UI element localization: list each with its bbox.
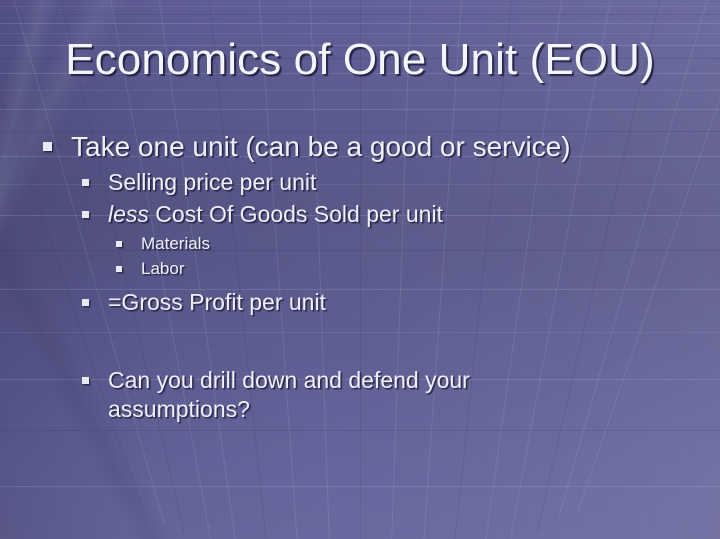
- bullet-text: Materials: [141, 232, 696, 256]
- slide-body-bullet-list: Take one unit (can be a good or service)…: [40, 130, 696, 427]
- square-bullet-icon: [116, 241, 122, 247]
- spacer: [40, 320, 696, 366]
- bullet-text: Take one unit (can be a good or service): [71, 130, 696, 164]
- square-bullet-icon: [82, 299, 89, 306]
- slide-title: Economics of One Unit (EOU): [0, 36, 720, 84]
- bullet-text-composite: less Cost Of Goods Sold per unit: [108, 200, 696, 229]
- presentation-slide: Economics of One Unit (EOU) Take one uni…: [0, 0, 720, 539]
- bullet-item-level1: Take one unit (can be a good or service): [40, 130, 696, 164]
- bullet-text: Selling price per unit: [108, 168, 696, 197]
- bullet-text: Can you drill down and defend your assum…: [108, 366, 578, 424]
- square-bullet-icon: [82, 211, 89, 218]
- bullet-text: =Gross Profit per unit: [108, 288, 696, 317]
- bullet-text-rest: Cost Of Goods Sold per unit: [149, 201, 443, 227]
- square-bullet-icon: [43, 142, 52, 151]
- bullet-item-cogs: less Cost Of Goods Sold per unit: [40, 200, 696, 229]
- bullet-item-labor: Labor: [40, 257, 696, 281]
- bullet-item-selling-price: Selling price per unit: [40, 168, 696, 197]
- bullet-item-gross-profit: =Gross Profit per unit: [40, 288, 696, 317]
- bullet-text-emphasis: less: [108, 201, 149, 227]
- bullet-item-question: Can you drill down and defend your assum…: [40, 366, 696, 424]
- square-bullet-icon: [82, 179, 89, 186]
- square-bullet-icon: [116, 266, 122, 272]
- square-bullet-icon: [82, 377, 89, 384]
- bullet-item-materials: Materials: [40, 232, 696, 256]
- bullet-text: Labor: [141, 257, 696, 281]
- slide-content: Economics of One Unit (EOU) Take one uni…: [0, 0, 720, 539]
